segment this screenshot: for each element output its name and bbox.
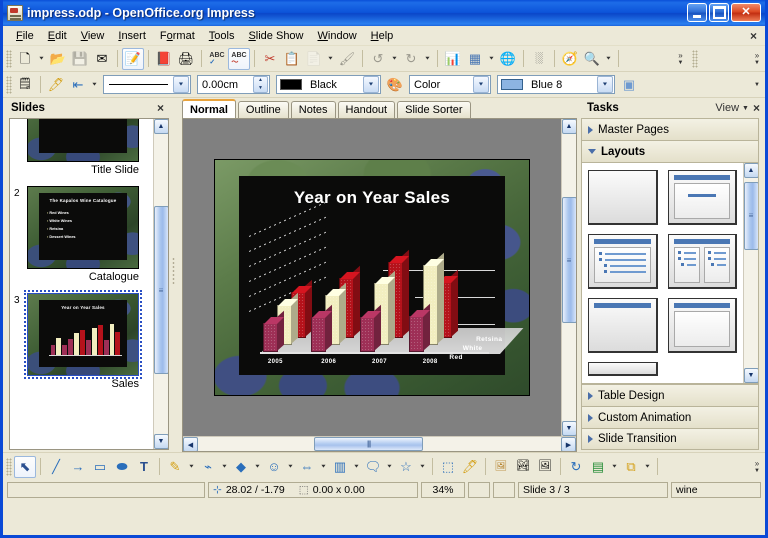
slide-thumbnail-1[interactable]: Fine wines from Greekisland Vineyards [27, 119, 139, 162]
line-width-spinner[interactable]: 0.00cm ▲▼ [197, 75, 270, 94]
bullet-item: Red Wines [47, 210, 127, 218]
slide-label-2: Catalogue [10, 269, 147, 291]
chevron-right-icon [588, 414, 593, 422]
close-icon[interactable]: × [753, 101, 760, 115]
slides-list-container: 1 Fine wines from Greekisland Vineyards … [9, 118, 169, 450]
menu-help[interactable]: Help [364, 28, 401, 44]
list-item[interactable]: 1 Fine wines from Greekisland Vineyards … [10, 119, 153, 184]
area-style-combo[interactable]: Color [409, 75, 491, 94]
section-master-pages[interactable]: Master Pages [581, 118, 759, 140]
bar-2008-red [409, 316, 424, 352]
callouts-button[interactable]: 🗨 [362, 456, 384, 478]
toolbar-separator [40, 76, 41, 93]
line-color-combo[interactable]: Black [276, 75, 381, 94]
layouts-gallery[interactable]: ▲ ▼ [581, 162, 759, 384]
overflow-chevrons: » [678, 51, 682, 60]
line-width-value: 0.00cm [198, 79, 253, 91]
shadow-toggle-button[interactable]: ▣ [618, 74, 640, 96]
line-tool-button[interactable]: ╱ [45, 456, 67, 478]
toolbar-separator [485, 458, 486, 475]
slide-thumbnail-3[interactable]: Year on Year Sales [27, 293, 139, 376]
tasks-panel-header: Tasks View ▼ × [579, 98, 765, 118]
scroll-right-button[interactable]: ▶ [561, 437, 576, 452]
series-label-red: Red [449, 354, 462, 361]
send-email-button[interactable]: ✉ [91, 48, 113, 70]
tasks-panel: Tasks View ▼ × Master Pages Layouts [579, 98, 765, 452]
toolbar-separator [560, 458, 561, 475]
x-tick-2005: 2005 [268, 359, 283, 365]
section-table-design[interactable]: Table Design [581, 384, 759, 406]
scroll-down-button[interactable]: ▼ [744, 368, 759, 383]
insert-table-button[interactable]: ▦ [464, 48, 486, 70]
canvas-vertical-scrollbar[interactable]: ▲ ▼ [561, 119, 576, 436]
section-label: Slide Transition [598, 433, 677, 445]
slide-counter: Slide 3 / 3 [518, 482, 668, 498]
new-document-button[interactable]: 🗋 [14, 48, 36, 70]
symbol-shapes-button[interactable]: ☺ [263, 456, 285, 478]
tab-slide-sorter[interactable]: Slide Sorter [397, 101, 470, 118]
status-bar: ⊹ 28.02 / -1.79 ⬚ 0.00 x 0.00 34% Slide … [3, 480, 765, 500]
series-label-white: White [463, 345, 483, 352]
spinner-arrows[interactable]: ▲▼ [253, 76, 268, 93]
current-slide[interactable]: Year on Year Sales [214, 159, 530, 396]
flowchart-button[interactable]: ▥ [329, 456, 351, 478]
tab-handout[interactable]: Handout [338, 101, 396, 118]
toolbar-grip[interactable] [6, 50, 12, 68]
slide-thumbnail-2-title: The Kapalos Wine Catalogue [39, 193, 127, 205]
menu-file[interactable]: File [9, 28, 41, 44]
bar-2006-red [311, 317, 326, 352]
bullet-item: Retsina [47, 226, 127, 234]
drawing-toolbar-grip[interactable] [6, 458, 12, 476]
connector-tool-dropdown[interactable] [219, 456, 230, 478]
points-tool-button[interactable]: ⬚ [437, 456, 459, 478]
glue-points-button[interactable]: 🖊 [459, 456, 481, 478]
slide-canvas[interactable]: Year on Year Sales [183, 119, 561, 436]
scroll-down-button[interactable]: ▼ [154, 434, 169, 449]
chevron-down-icon[interactable] [473, 76, 489, 93]
canvas-row: Year on Year Sales [183, 119, 576, 436]
clone-formatting-button[interactable]: 🖌 [336, 48, 358, 70]
section-label: Master Pages [598, 124, 669, 136]
zoom-dropdown[interactable] [603, 48, 614, 70]
basic-shapes-button[interactable]: ◆ [230, 456, 252, 478]
basic-shapes-dropdown[interactable] [252, 456, 263, 478]
chevron-right-icon [588, 435, 593, 443]
connector-tool-button[interactable]: ⌁ [197, 456, 219, 478]
overflow-chevrons-2: » [755, 51, 759, 60]
signature-indicator [493, 482, 515, 498]
status-info-field [7, 482, 205, 498]
slide-thumbnail-3-chart [44, 319, 123, 362]
select-tool-button[interactable]: ⬉ [14, 456, 36, 478]
scroll-track[interactable] [562, 134, 577, 421]
section-label: Custom Animation [598, 412, 691, 424]
undo-button[interactable]: ↺ [367, 48, 389, 70]
curve-tool-button[interactable]: ✎ [164, 456, 186, 478]
arrow-style-dropdown[interactable] [89, 74, 100, 96]
ellipse-tool-button[interactable]: ⬬ [111, 456, 133, 478]
gallery-button[interactable]: 🖼 [534, 456, 556, 478]
toolbar-separator [201, 50, 202, 67]
slides-panel-splitter[interactable] [171, 98, 176, 452]
work-area: Normal Outline Notes Handout Slide Sorte… [176, 98, 579, 452]
layout-centered-text[interactable] [668, 298, 738, 353]
menu-edit[interactable]: Edit [41, 28, 74, 44]
series-label-retsina: Retsina [476, 336, 502, 343]
text-tool-button[interactable]: T [133, 456, 155, 478]
line-toolbar-overflow[interactable]: ▼ [749, 73, 765, 97]
standard-toolbar-overflow[interactable]: » ▼ [673, 47, 689, 71]
toolbar-separator [618, 50, 619, 67]
callouts-dropdown[interactable] [384, 456, 395, 478]
impress-window: impress.odp - OpenOffice.org Impress ✕ F… [0, 0, 768, 538]
section-label: Layouts [601, 146, 645, 158]
slide-number: 2 [14, 188, 20, 199]
modified-indicator [468, 482, 490, 498]
save-document-button[interactable]: 💾 [69, 48, 91, 70]
zoom-level[interactable]: 34% [421, 482, 465, 498]
hyperlink-button[interactable]: 🌐 [497, 48, 519, 70]
window-controls: ✕ [687, 3, 761, 22]
chart-bars [263, 224, 485, 352]
scroll-up-button[interactable]: ▲ [154, 119, 169, 134]
block-arrows-dropdown[interactable] [318, 456, 329, 478]
toolbar-separator [362, 50, 363, 67]
menu-view[interactable]: View [74, 28, 112, 44]
tasks-panel-title: Tasks [587, 102, 619, 114]
layout-title-only[interactable] [588, 298, 658, 353]
fontwork-gallery-button[interactable]: 🖼 [490, 456, 512, 478]
menu-window[interactable]: Window [311, 28, 364, 44]
toolbar-separator [40, 458, 41, 475]
title-bar: impress.odp - OpenOffice.org Impress ✕ [3, 0, 765, 26]
hscroll-track[interactable] [198, 437, 561, 451]
area-fill-value: Blue 8 [527, 79, 597, 91]
layouts-grid [582, 163, 743, 383]
area-fill-swatch [501, 79, 523, 90]
arrange-dropdown[interactable] [642, 456, 653, 478]
line-color-swatch [280, 79, 302, 90]
insert-image-button[interactable]: 🏞 [512, 456, 534, 478]
new-document-dropdown[interactable] [36, 48, 47, 70]
slide-label-1: Title Slide [10, 162, 147, 184]
arrow-style-button[interactable]: ⇤ [67, 74, 89, 96]
section-slide-transition[interactable]: Slide Transition [581, 428, 759, 450]
drawing-toolbar-overflow[interactable]: » ▼ [749, 455, 765, 479]
layouts-scrollbar[interactable]: ▲ ▼ [743, 163, 758, 383]
redo-dropdown[interactable] [422, 48, 433, 70]
object-size: 0.00 x 0.00 [313, 484, 365, 496]
scroll-down-button[interactable]: ▼ [562, 421, 577, 436]
scroll-thumb[interactable] [562, 197, 577, 323]
x-tick-2008: 2008 [423, 359, 438, 365]
toolbar-separator [554, 50, 555, 67]
slides-list[interactable]: 1 Fine wines from Greekisland Vineyards … [10, 119, 153, 449]
tab-normal[interactable]: Normal [182, 99, 236, 118]
tasks-sections: Master Pages Layouts [581, 118, 759, 450]
line-style-combo[interactable] [103, 75, 191, 94]
toolbar-separator [657, 458, 658, 475]
toolbar-separator [148, 50, 149, 67]
toolbar-grip-secondary[interactable] [692, 50, 698, 68]
standard-toolbar-overflow-2[interactable]: » ▼ [749, 47, 765, 71]
paste-dropdown[interactable] [325, 48, 336, 70]
export-pdf-button[interactable]: 📕 [153, 48, 175, 70]
line-pen-button[interactable]: 🖊 [45, 74, 67, 96]
slide-number: 3 [14, 295, 20, 306]
scroll-up-button[interactable]: ▲ [562, 119, 577, 134]
spelling-check-button[interactable]: ABC✓ [206, 48, 228, 70]
chevron-down-icon [588, 149, 596, 154]
curve-tool-dropdown[interactable] [186, 456, 197, 478]
flowchart-dropdown[interactable] [351, 456, 362, 478]
chevron-right-icon [588, 392, 593, 400]
impress-document-icon [7, 5, 23, 21]
menu-format[interactable]: Format [153, 28, 202, 44]
section-custom-animation[interactable]: Custom Animation [581, 406, 759, 428]
scroll-thumb[interactable] [744, 182, 759, 250]
section-layouts[interactable]: Layouts [581, 140, 759, 162]
toolbar-separator [254, 50, 255, 67]
slide-label-3: Sales [10, 376, 147, 398]
navigator-button[interactable]: 🧭 [559, 48, 581, 70]
bullet-item: White Wines [47, 218, 127, 226]
section-label: Table Design [598, 390, 664, 402]
bullet-item: Dessert Wines [47, 234, 127, 242]
toolbar-separator [523, 50, 524, 67]
slide-thumbnail-3-content: Year on Year Sales [39, 300, 127, 366]
main-body: Slides × 1 Fine wines from Greekisland V… [3, 98, 765, 452]
bar-2007-red [360, 317, 375, 352]
layout-blank-slide[interactable] [588, 170, 658, 225]
slide-thumbnail-1-content: Fine wines from Greekisland Vineyards [39, 119, 127, 153]
list-item[interactable]: 3 Year on Year Sales [10, 291, 153, 398]
arrow-tool-button[interactable]: → [67, 456, 89, 478]
standard-toolbar: 🗋 📂 💾 ✉ 📝 📕 🖨 ABC✓ ABC〜 ✂ 📋 📄 🖌 ↺ ↻ 📊 ▦ … [3, 46, 765, 72]
menu-bar: File Edit View Insert Format Tools Slide… [3, 26, 765, 46]
arrange-button[interactable]: ⧉ [620, 456, 642, 478]
slides-panel: Slides × 1 Fine wines from Greekisland V… [3, 98, 171, 452]
chevron-right-icon [588, 126, 593, 134]
close-icon[interactable]: × [154, 101, 167, 115]
size-icon: ⬚ [299, 484, 309, 496]
area-style-value: Color [410, 79, 473, 91]
autospellcheck-button[interactable]: ABC〜 [228, 48, 250, 70]
close-button[interactable]: ✕ [731, 3, 761, 22]
insert-chart-button[interactable]: 📊 [442, 48, 464, 70]
layout-title-two-content[interactable] [668, 234, 738, 289]
menu-insert[interactable]: Insert [111, 28, 153, 44]
chevron-down-icon[interactable]: ▼ [739, 105, 753, 112]
display-grid-button[interactable]: ░ [528, 48, 550, 70]
chevron-down-icon[interactable] [363, 76, 379, 93]
chevron-down-icon[interactable] [173, 76, 189, 93]
maximize-button[interactable] [709, 3, 729, 22]
rectangle-tool-button[interactable]: ▭ [89, 456, 111, 478]
position-icon: ⊹ [213, 484, 222, 496]
slide-content-area: Year on Year Sales [239, 176, 506, 375]
alignment-button[interactable]: ▤ [587, 456, 609, 478]
layout-title-content[interactable] [668, 170, 738, 225]
x-tick-2006: 2006 [321, 359, 336, 365]
chevron-down-icon[interactable] [597, 76, 613, 93]
toolbar-separator [159, 458, 160, 475]
layout-partial-row[interactable] [588, 362, 658, 376]
stars-button[interactable]: ☆ [395, 456, 417, 478]
view-tabs: Normal Outline Notes Handout Slide Sorte… [176, 98, 579, 118]
menu-slide-show[interactable]: Slide Show [241, 28, 310, 44]
slide-thumbnail-2[interactable]: The Kapalos Wine Catalogue Red Wines Whi… [27, 186, 139, 269]
line-toolbar-grip[interactable] [6, 76, 12, 94]
minimize-button[interactable] [687, 3, 707, 22]
undo-dropdown[interactable] [389, 48, 400, 70]
tab-outline[interactable]: Outline [238, 101, 289, 118]
slides-panel-scrollbar[interactable]: ▲ ▼ [153, 119, 168, 449]
line-style-preview [109, 84, 168, 85]
slide-thumbnail-3-title: Year on Year Sales [39, 300, 127, 312]
canvas-horizontal-scrollbar[interactable]: ◀ ▶ [183, 436, 576, 451]
line-color-value: Black [306, 79, 363, 91]
toolbar-separator [117, 50, 118, 67]
rotate-tool-button[interactable]: ↻ [565, 456, 587, 478]
list-item[interactable]: 2 The Kapalos Wine Catalogue Red Wines W… [10, 184, 153, 291]
toolbar-separator [432, 458, 433, 475]
scroll-thumb[interactable] [154, 206, 169, 374]
window-title: impress.odp - OpenOffice.org Impress [27, 6, 255, 20]
block-arrows-button[interactable]: ⇔ [296, 456, 318, 478]
stars-dropdown[interactable] [417, 456, 428, 478]
slide-editor: Year on Year Sales [182, 118, 577, 452]
scroll-left-button[interactable]: ◀ [183, 437, 198, 452]
slide-properties-button[interactable]: 🗒 [14, 74, 36, 96]
line-and-filling-toolbar: 🗒 🖊 ⇤ 0.00cm ▲▼ Black 🎨 Color Blue 8 ▣ [3, 72, 765, 98]
scroll-track[interactable] [154, 134, 169, 434]
master-page-name: wine [671, 482, 761, 498]
layout-title-bullets[interactable] [588, 234, 658, 289]
symbol-shapes-dropdown[interactable] [285, 456, 296, 478]
bar-2005-red [263, 323, 278, 352]
cursor-position: 28.02 / -1.79 [226, 484, 285, 496]
scroll-up-button[interactable]: ▲ [744, 163, 759, 178]
redo-button[interactable]: ↻ [400, 48, 422, 70]
slides-panel-header: Slides × [3, 98, 171, 118]
insert-table-dropdown[interactable] [486, 48, 497, 70]
tab-notes[interactable]: Notes [291, 101, 336, 118]
cut-button[interactable]: ✂ [259, 48, 281, 70]
scroll-track[interactable] [744, 178, 759, 368]
slide-title[interactable]: Year on Year Sales [239, 176, 506, 208]
overflow-chevrons: » [755, 459, 759, 468]
x-tick-2007: 2007 [372, 359, 387, 365]
close-document-button[interactable]: × [750, 29, 757, 43]
area-fill-combo[interactable]: Blue 8 [497, 75, 615, 94]
menu-tools[interactable]: Tools [202, 28, 242, 44]
sales-chart[interactable]: 2005 2006 2007 2008 Red White Retsina [239, 224, 506, 375]
toolbar-separator [437, 50, 438, 67]
zoom-button[interactable]: 🔍 [581, 48, 603, 70]
hscroll-thumb[interactable] [314, 437, 423, 451]
copy-button[interactable]: 📋 [281, 48, 303, 70]
slide-thumbnail-2-bullets: Red Wines White Wines Retsina Dessert Wi… [39, 205, 127, 242]
paste-button[interactable]: 📄 [303, 48, 325, 70]
edit-file-button[interactable]: 📝 [122, 48, 144, 70]
slide-thumbnail-2-content: The Kapalos Wine Catalogue Red Wines Whi… [39, 193, 127, 259]
drawing-toolbar: ⬉ ╱ → ▭ ⬬ T ✎ ⌁ ◆ ☺ ⇔ ▥ 🗨 ☆ ⬚ 🖊 🖼 🏞 🖼 ↻ … [3, 452, 765, 480]
print-button[interactable]: 🖨 [175, 48, 197, 70]
tasks-view-button[interactable]: View [715, 102, 739, 114]
open-document-button[interactable]: 📂 [47, 48, 69, 70]
area-style-button[interactable]: 🎨 [384, 74, 406, 96]
status-position-size-field: ⊹ 28.02 / -1.79 ⬚ 0.00 x 0.00 [208, 482, 418, 498]
alignment-dropdown[interactable] [609, 456, 620, 478]
slides-panel-title: Slides [11, 102, 45, 114]
